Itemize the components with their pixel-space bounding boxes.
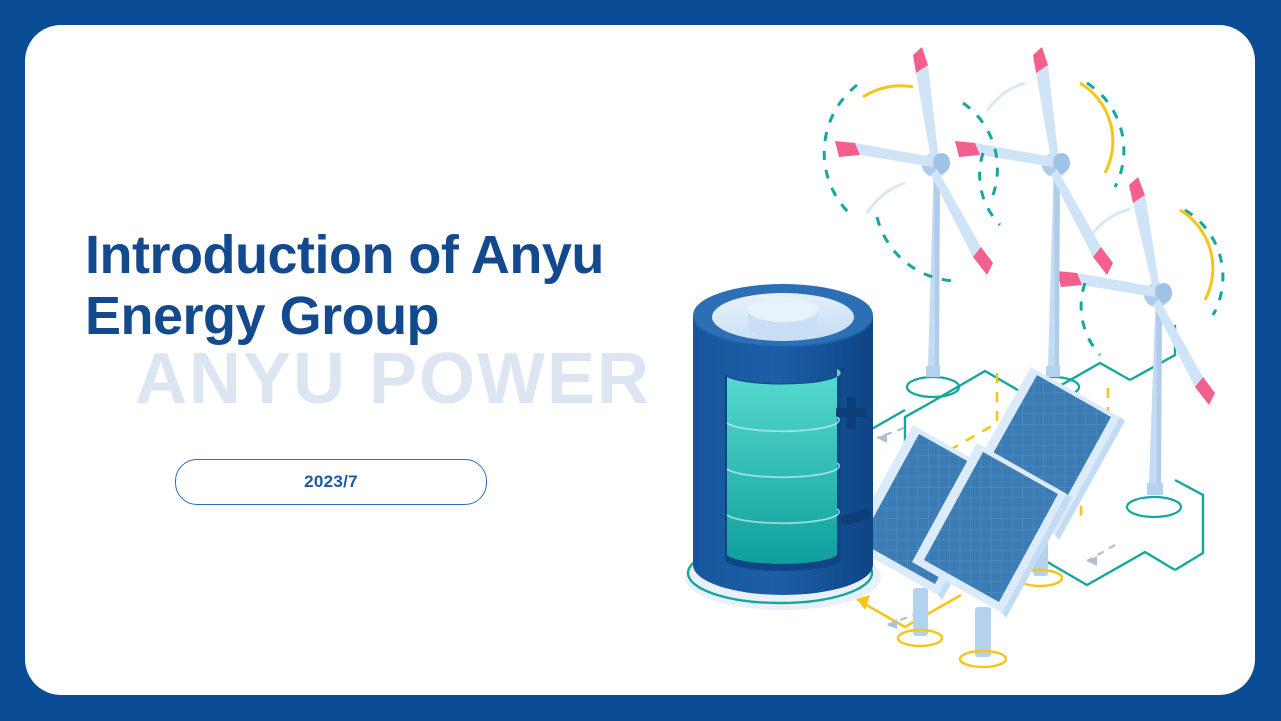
watermark-text: ANYU POWER xyxy=(135,343,651,415)
panel-post xyxy=(1033,530,1048,576)
solar-panel xyxy=(965,367,1125,586)
battery-plus-icon xyxy=(836,397,867,429)
battery-cap xyxy=(712,293,854,341)
circuit-path xyxy=(823,325,1203,585)
motion-arc xyxy=(863,86,913,97)
battery-minus-icon xyxy=(840,508,872,526)
motion-arc xyxy=(867,183,905,213)
battery-charge xyxy=(727,369,841,564)
flow-arrow-icon xyxy=(877,428,1115,625)
motion-arc xyxy=(963,103,997,195)
motion-arc xyxy=(987,83,1025,111)
ground-shadow xyxy=(685,544,881,610)
motion-arc xyxy=(877,217,955,281)
battery-terminal xyxy=(748,298,818,322)
slide-root: ANYU POWER Introduction of Anyu Energy G… xyxy=(0,0,1281,721)
panel-post xyxy=(975,607,991,657)
motion-arc xyxy=(1093,209,1130,233)
wind-turbine xyxy=(955,47,1124,397)
page-title-line2: Energy Group xyxy=(85,286,725,347)
motion-arc xyxy=(980,153,1000,225)
turbine-blade xyxy=(835,47,993,275)
date-badge[interactable]: 2023/7 xyxy=(175,459,487,505)
page-title-line1: Introduction of Anyu xyxy=(85,225,725,286)
wind-turbine xyxy=(1057,177,1223,517)
wind-turbine xyxy=(824,47,997,397)
turbine-blade xyxy=(955,47,1113,275)
date-badge-label: 2023/7 xyxy=(304,472,358,492)
charge-level-line xyxy=(727,417,839,523)
solar-panel xyxy=(848,425,1008,646)
motion-arc xyxy=(824,85,857,215)
arrow-head-icon xyxy=(877,433,1097,629)
motion-arc xyxy=(1087,83,1124,187)
solar-panel xyxy=(912,443,1072,667)
motion-arc xyxy=(1080,83,1113,173)
arrow-icon xyxy=(857,595,870,610)
panel-post xyxy=(913,588,928,636)
circuit-path-yellow xyxy=(857,373,1108,627)
motion-arc xyxy=(1081,283,1100,355)
page-title: Introduction of Anyu Energy Group xyxy=(85,225,725,347)
turbine-blade xyxy=(1057,177,1215,405)
slide-card: ANYU POWER Introduction of Anyu Energy G… xyxy=(25,25,1255,695)
motion-arc xyxy=(1180,210,1213,300)
motion-arc xyxy=(1185,210,1223,315)
